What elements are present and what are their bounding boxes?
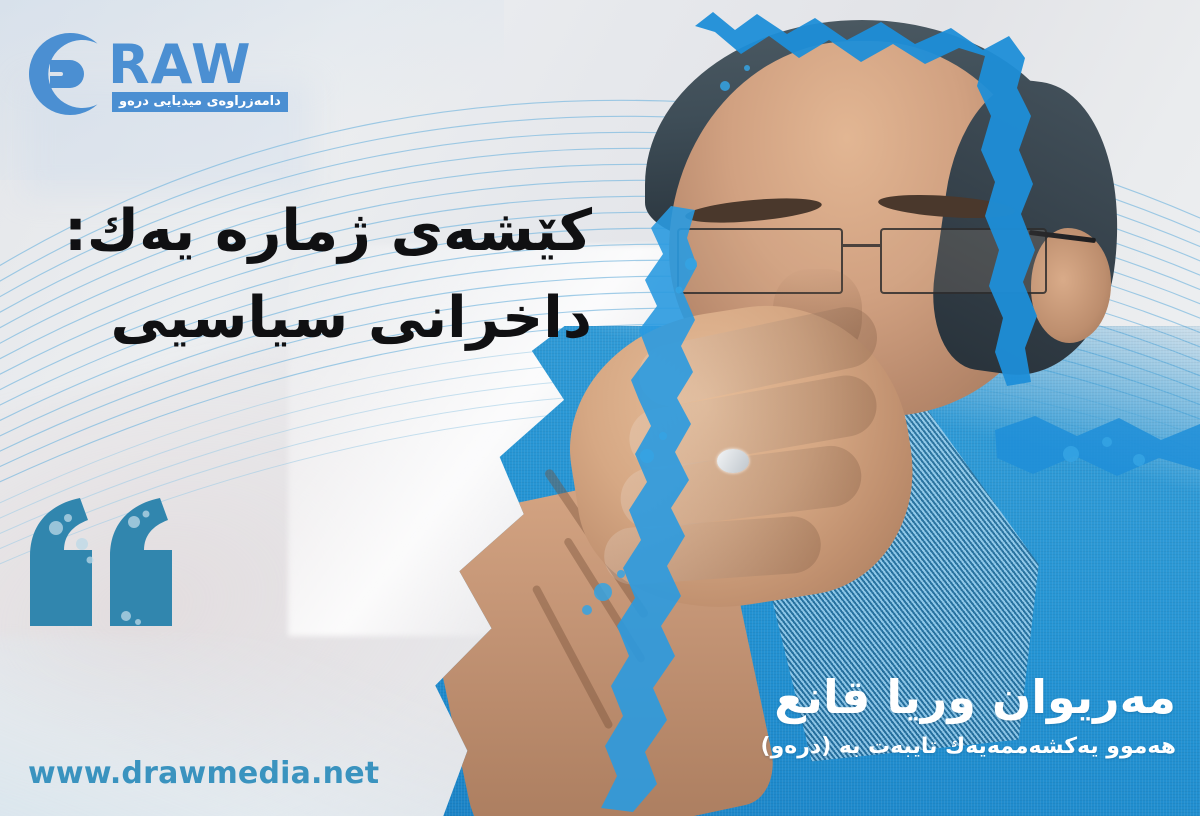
portrait-glasses xyxy=(677,228,1047,293)
glasses-bridge xyxy=(843,244,880,247)
headline-line-1: کێشەی ژمارە یەك: xyxy=(52,190,592,273)
logo-subtitle: دامەزراوەی میدیایی درەو xyxy=(112,92,288,112)
glasses-lens-right xyxy=(880,228,1047,293)
brand-logo[interactable]: RAW دامەزراوەی میدیایی درەو xyxy=(24,26,304,122)
logo-wordmark: RAW xyxy=(108,38,252,92)
double-quote-open-icon xyxy=(26,498,176,626)
quote-card: RAW دامەزراوەی میدیایی درەو کێشەی ژمارە … xyxy=(0,0,1200,816)
speaker-name: مەریوان وریا قانع xyxy=(536,672,1176,724)
headline-line-2: داخرانی سیاسیی xyxy=(52,277,592,360)
draw-circle-d-icon xyxy=(26,30,114,118)
speaker-tagline: هەموو یەکشەممەیەك تایبەت بە (درەو) xyxy=(536,734,1176,759)
website-url[interactable]: www.drawmedia.net xyxy=(28,756,379,791)
headline: کێشەی ژمارە یەك: داخرانی سیاسیی xyxy=(52,190,592,360)
speaker-block: مەریوان وریا قانع هەموو یەکشەممەیەك تایب… xyxy=(536,672,1176,759)
